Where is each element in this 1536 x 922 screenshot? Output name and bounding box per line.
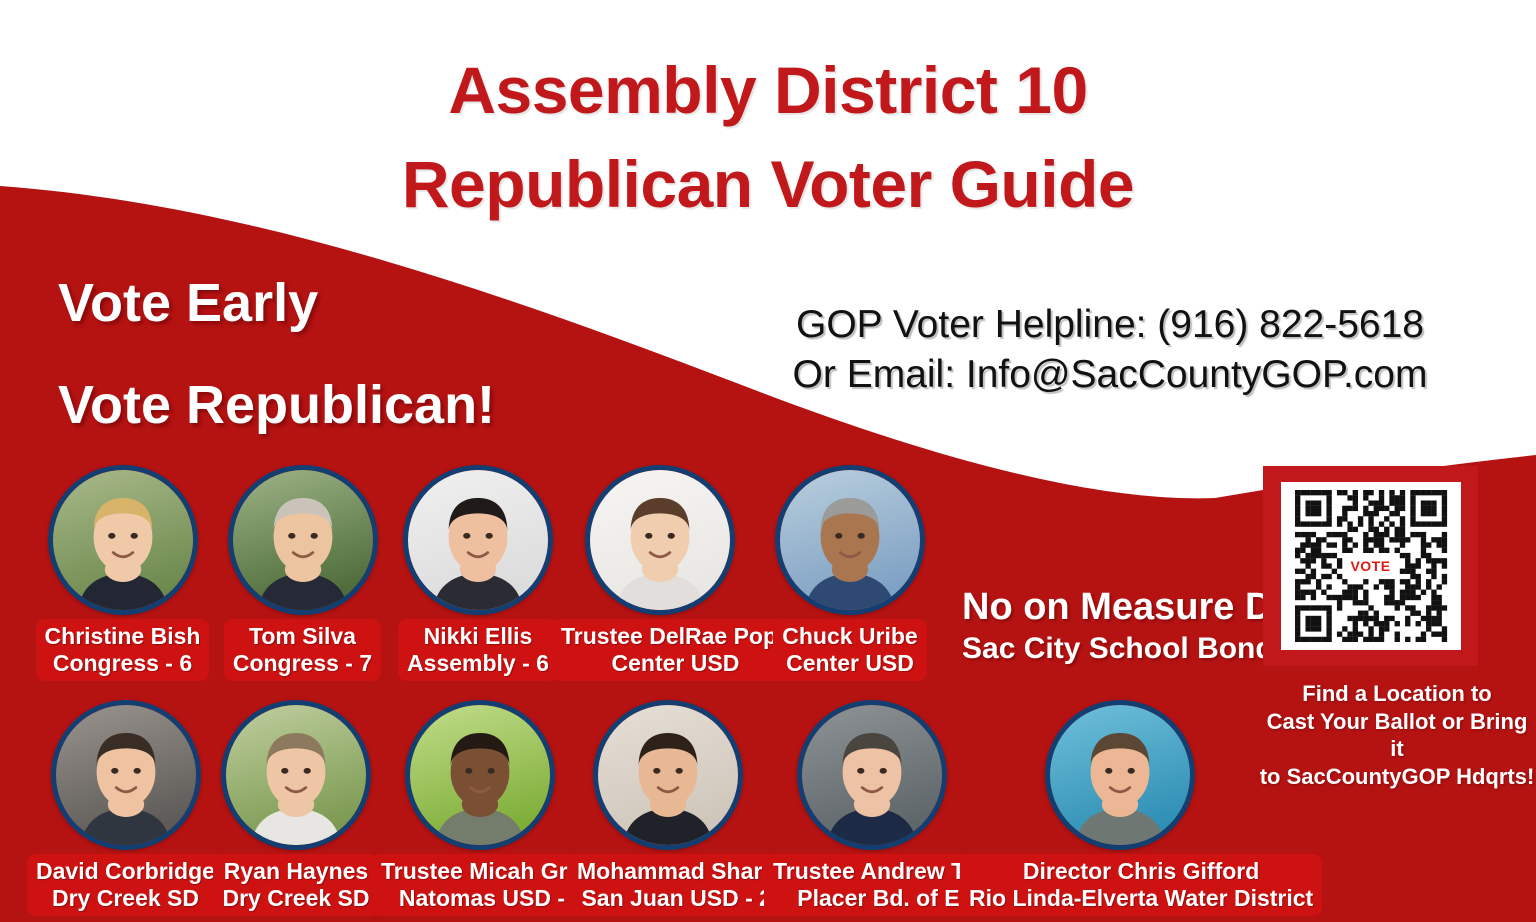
candidate-card: Director Chris GiffordRio Linda-Elverta … <box>960 700 1280 916</box>
candidate-photo <box>1045 700 1195 850</box>
page-title: Assembly District 10 Republican Voter Gu… <box>0 44 1536 231</box>
candidate-photo <box>405 700 555 850</box>
candidate-office: Dry Creek SD <box>36 885 215 912</box>
candidate-office: Assembly - 6 <box>407 650 549 677</box>
candidate-name-label: Mohammad SharifSan Juan USD - 2 <box>568 854 785 916</box>
candidate-card: Trustee Andrew TaggPlacer Bd. of Ed. <box>764 700 979 916</box>
candidate-name: Mohammad Sharif <box>577 858 776 884</box>
candidate-photo <box>48 465 198 615</box>
slogan: Vote Early Vote Republican! <box>58 276 495 432</box>
candidate-office: Dry Creek SD <box>222 885 369 912</box>
candidate-name-label: Chuck UribeCenter USD <box>773 619 926 681</box>
qr-code-white-frame: VOTE <box>1281 482 1461 650</box>
candidate-office: Rio Linda-Elverta Water District <box>969 885 1313 912</box>
candidate-name: Tom Silva <box>249 623 356 649</box>
candidate-name: Ryan Haynes <box>224 858 368 884</box>
candidate-name-label: Ryan HaynesDry Creek SD <box>213 854 378 916</box>
candidate-office: Center USD <box>782 650 917 677</box>
candidate-card: Trustee DelRae PopeCenter USD <box>552 465 767 681</box>
slogan-line-2: Vote Republican! <box>58 378 495 432</box>
candidate-name: Chuck Uribe <box>782 623 917 649</box>
candidate-name: David Corbridge <box>36 858 215 884</box>
candidate-photo <box>228 465 378 615</box>
candidate-office: San Juan USD - 2 <box>577 885 776 912</box>
qr-caption-line-1: Find a Location to <box>1258 680 1536 708</box>
helpline-email: Or Email: Info@SacCountyGOP.com <box>760 350 1460 400</box>
slogan-line-1: Vote Early <box>58 273 318 333</box>
candidate-photo <box>775 465 925 615</box>
voter-guide-poster: Assembly District 10 Republican Voter Gu… <box>0 0 1536 922</box>
candidate-name-label: Director Chris GiffordRio Linda-Elverta … <box>960 854 1322 916</box>
candidate-name: Christine Bish <box>45 623 201 649</box>
candidate-card: Mohammad SharifSan Juan USD - 2 <box>568 700 768 916</box>
candidate-card: Ryan HaynesDry Creek SD <box>196 700 396 916</box>
qr-code-block[interactable]: VOTE <box>1263 466 1478 666</box>
candidate-photo <box>51 700 201 850</box>
candidate-photo <box>403 465 553 615</box>
qr-caption: Find a Location to Cast Your Ballot or B… <box>1258 680 1536 791</box>
candidate-photo <box>585 465 735 615</box>
candidate-photo <box>797 700 947 850</box>
qr-caption-line-2: Cast Your Ballot or Bring it <box>1258 708 1536 763</box>
candidate-office: Congress - 7 <box>233 650 372 677</box>
candidate-name-label: Christine BishCongress - 6 <box>36 619 210 681</box>
candidate-card: Christine BishCongress - 6 <box>20 465 225 681</box>
candidate-photo <box>593 700 743 850</box>
candidate-card: Tom SilvaCongress - 7 <box>200 465 405 681</box>
candidate-office: Congress - 6 <box>45 650 201 677</box>
candidate-card: Trustee Micah GrantNatomas USD - 3 <box>372 700 587 916</box>
headline-line-2: Republican Voter Guide <box>0 138 1536 232</box>
headline-line-1: Assembly District 10 <box>448 53 1087 127</box>
gop-voter-helpline: GOP Voter Helpline: (916) 822-5618 Or Em… <box>760 300 1460 400</box>
candidate-name: Director Chris Gifford <box>1023 858 1259 884</box>
candidate-photo <box>221 700 371 850</box>
helpline-phone: GOP Voter Helpline: (916) 822-5618 <box>760 300 1460 350</box>
candidate-name-label: Nikki EllisAssembly - 6 <box>398 619 558 681</box>
qr-vote-label: VOTE <box>1344 555 1396 577</box>
candidate-office: Center USD <box>561 650 790 677</box>
qr-caption-line-3: to SacCountyGOP Hdqrts! <box>1258 763 1536 791</box>
candidate-name-label: Tom SilvaCongress - 7 <box>224 619 381 681</box>
candidate-card: Nikki EllisAssembly - 6 <box>378 465 578 681</box>
candidate-card: Chuck UribeCenter USD <box>760 465 940 681</box>
candidate-name-label: David CorbridgeDry Creek SD <box>27 854 224 916</box>
candidate-name: Trustee DelRae Pope <box>561 623 790 649</box>
candidate-name: Nikki Ellis <box>424 623 533 649</box>
